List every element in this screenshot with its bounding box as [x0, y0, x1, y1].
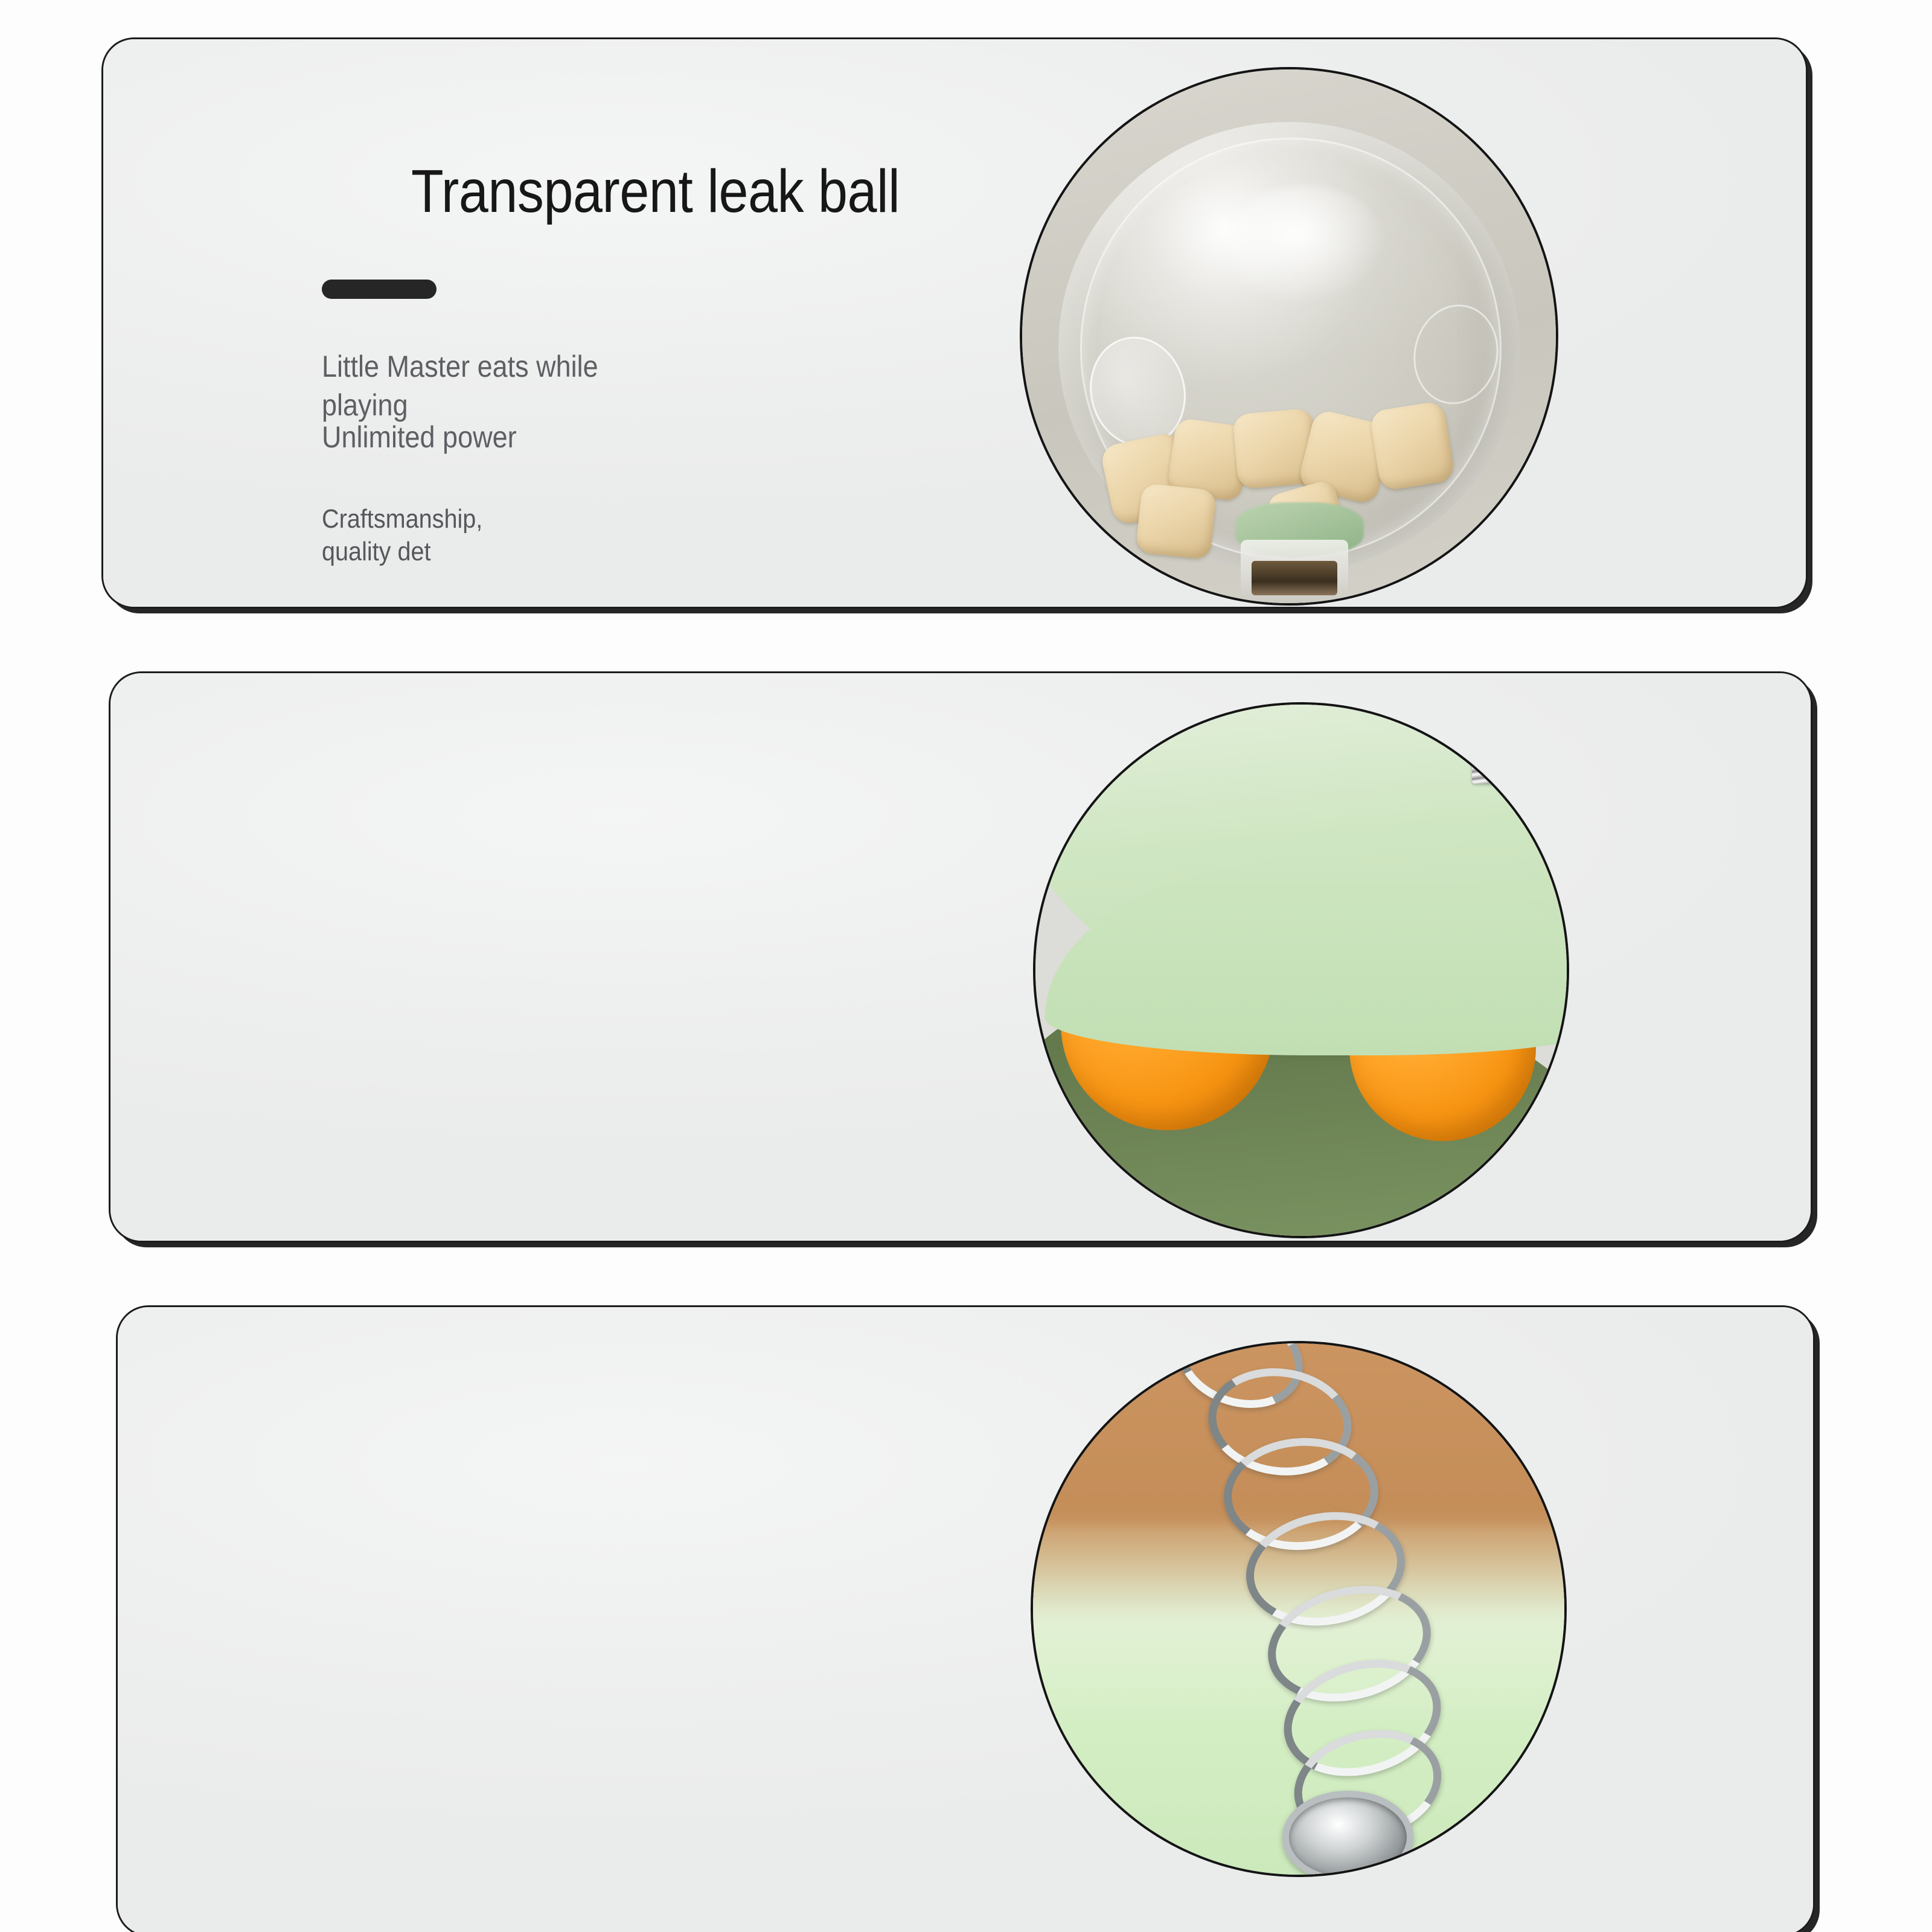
feature-footer-note: Craftsmanship, quality det [322, 503, 482, 568]
dash-accent-bar [322, 280, 437, 299]
feature-line-secondary: Unlimited power [322, 420, 517, 455]
card-title: Transparent leak ball [411, 157, 900, 226]
product-image-tunnel-cat-ball [1033, 702, 1569, 1238]
feature-card-high-quality-spring[interactable]: High quality spring High quality fine st… [116, 1305, 1815, 1932]
infographic-page: Transparent leak ball Little Master eats… [0, 0, 1932, 1932]
product-image-high-quality-spring [1031, 1341, 1567, 1877]
feature-card-transparent-leak-ball[interactable]: Transparent leak ball Little Master eats… [101, 37, 1808, 609]
feature-line-primary: Little Master eats while playing [322, 347, 598, 424]
feature-card-tunnel-cat-ball[interactable]: Tunnel cat ball The tunnel contains two … [109, 671, 1812, 1243]
product-image-transparent-leak-ball [1020, 67, 1558, 606]
